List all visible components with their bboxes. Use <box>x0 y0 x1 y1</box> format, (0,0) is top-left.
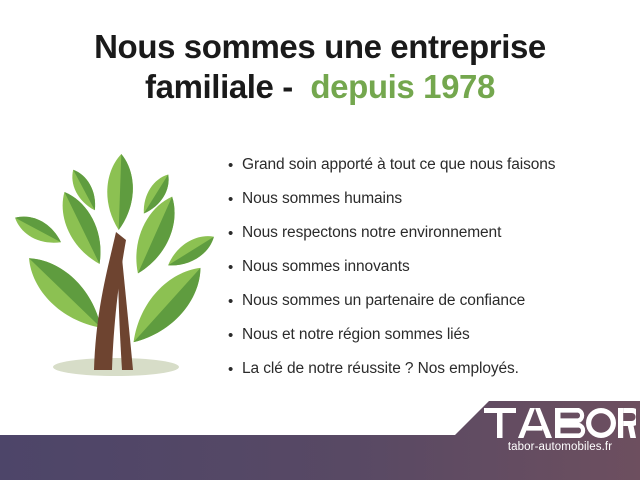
list-item: • Nous respectons notre environnement <box>228 216 628 250</box>
list-item: • Nous et notre région sommes liés <box>228 318 628 352</box>
list-item-label: Nous respectons notre environnement <box>242 224 501 242</box>
tree-illustration <box>8 148 223 392</box>
title-line-2-prefix: familiale - <box>145 68 293 105</box>
tree-branch <box>118 248 133 370</box>
bullet-marker-icon: • <box>228 158 242 173</box>
bullet-marker-icon: • <box>228 226 242 241</box>
list-item: • Nous sommes innovants <box>228 250 628 284</box>
title-line-1: Nous sommes une entreprise <box>0 28 640 66</box>
bullet-marker-icon: • <box>228 294 242 309</box>
bullet-marker-icon: • <box>228 362 242 377</box>
list-item-label: Nous sommes humains <box>242 190 402 208</box>
list-item: • La clé de notre réussite ? Nos employé… <box>228 352 628 386</box>
feature-list: • Grand soin apporté à tout ce que nous … <box>228 148 628 386</box>
list-item: • Nous sommes humains <box>228 182 628 216</box>
brand-wordmark <box>484 406 636 440</box>
title-line-2: familiale - depuis 1978 <box>0 68 640 106</box>
brand-logo[interactable]: tabor-automobiles.fr <box>484 406 636 453</box>
list-item-label: Grand soin apporté à tout ce que nous fa… <box>242 156 555 174</box>
tree-shadow <box>53 358 179 376</box>
slide-canvas: Nous sommes une entreprise familiale - d… <box>0 0 640 480</box>
list-item-label: Nous et notre région sommes liés <box>242 326 470 344</box>
tree-icon <box>8 148 223 392</box>
list-item-label: Nous sommes un partenaire de confiance <box>242 292 525 310</box>
list-item-label: La clé de notre réussite ? Nos employés. <box>242 360 519 378</box>
list-item-label: Nous sommes innovants <box>242 258 410 276</box>
footer-bar: tabor-automobiles.fr <box>0 398 640 480</box>
list-item: • Grand soin apporté à tout ce que nous … <box>228 148 628 182</box>
bullet-marker-icon: • <box>228 192 242 207</box>
bullet-marker-icon: • <box>228 328 242 343</box>
list-item: • Nous sommes un partenaire de confiance <box>228 284 628 318</box>
title-accent-text: depuis 1978 <box>310 68 495 105</box>
tabor-wordmark-icon <box>484 406 636 440</box>
page-title: Nous sommes une entreprise familiale - d… <box>0 28 640 107</box>
bullet-marker-icon: • <box>228 260 242 275</box>
brand-url-label: tabor-automobiles.fr <box>484 441 636 453</box>
